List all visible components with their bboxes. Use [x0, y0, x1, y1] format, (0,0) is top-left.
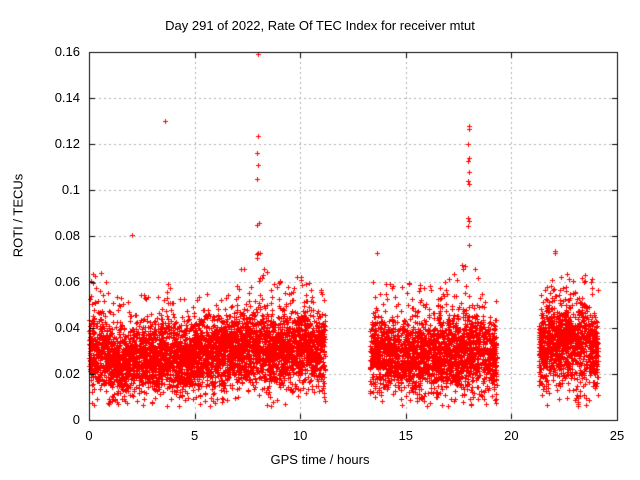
- x-tick-label: 15: [376, 428, 436, 443]
- x-tick-label: 5: [165, 428, 225, 443]
- y-tick-label: 0.16: [18, 44, 80, 59]
- x-tick-label: 25: [587, 428, 640, 443]
- x-tick-label: 10: [270, 428, 330, 443]
- y-axis-label: ROTI / TECUs: [11, 146, 26, 286]
- x-tick-label: 0: [59, 428, 119, 443]
- y-tick-label: 0.08: [18, 228, 80, 243]
- x-tick-label: 20: [481, 428, 541, 443]
- y-tick-label: 0.1: [18, 182, 80, 197]
- y-tick-label: 0: [18, 412, 80, 427]
- scatter-canvas: [0, 0, 640, 480]
- roti-scatter-figure: Day 291 of 2022, Rate Of TEC Index for r…: [0, 0, 640, 480]
- plot-area: [0, 0, 640, 480]
- y-tick-label: 0.14: [18, 90, 80, 105]
- y-tick-label: 0.12: [18, 136, 80, 151]
- x-axis-label: GPS time / hours: [0, 452, 640, 467]
- y-tick-label: 0.04: [18, 320, 80, 335]
- y-tick-label: 0.02: [18, 366, 80, 381]
- y-tick-label: 0.06: [18, 274, 80, 289]
